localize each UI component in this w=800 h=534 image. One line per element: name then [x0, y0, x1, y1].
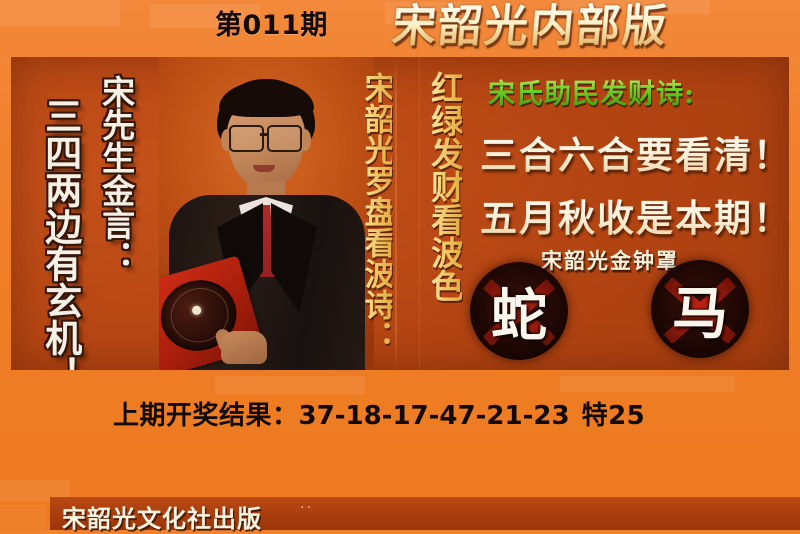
special-number-value: 25	[608, 401, 645, 431]
portrait-mouth	[253, 165, 275, 172]
special-number-label: 特	[582, 401, 609, 431]
last-draw-label: 上期开奖结果：	[113, 401, 299, 431]
portrait-glasses-right-lens	[267, 125, 302, 152]
zodiac-character-snake: 蛇	[470, 262, 568, 360]
zodiac-character-horse: 马	[651, 260, 749, 358]
zodiac-badge-horse: 马	[651, 260, 749, 358]
last-draw-result: 上期开奖结果：37-18-17-47-21-23特25	[113, 395, 645, 432]
portrait-hand	[221, 331, 267, 364]
portrait-glasses-bridge	[260, 133, 267, 136]
issue-number-label: 第011期	[215, 12, 328, 39]
poem-line-1: 三合六合要看清！	[480, 125, 789, 179]
panel-divider-secondary	[419, 57, 420, 370]
vertical-text-riddle-line: 三四两边有玄机！	[41, 97, 79, 370]
zodiac-badge-snake: 蛇	[470, 262, 568, 360]
vertical-text-red-green-wave-color: 红绿发财看波色	[428, 71, 462, 302]
last-draw-numbers: 37-18-17-47-21-23	[299, 401, 570, 431]
brand-title: 宋韶光内部版	[390, 2, 670, 52]
background-streak	[560, 376, 735, 392]
background-streak	[0, 505, 46, 530]
poster-root: 第011期 宋韶光内部版 宋先生金言： 三四两边有玄机！	[0, 0, 800, 530]
poem-line-2: 五月秋收是本期！	[480, 188, 789, 242]
panel-divider	[395, 57, 397, 370]
footer-dots: ··	[300, 500, 313, 516]
vertical-text-sir-golden-words: 宋先生金言：	[99, 75, 133, 273]
portrait-photo	[159, 57, 374, 370]
poem-title: 宋氏助民发财诗:	[488, 72, 695, 111]
main-image-panel: 宋先生金言： 三四两边有玄机！	[11, 57, 789, 370]
publisher-label: 宋韶光文化社出版	[62, 499, 262, 534]
background-streak	[215, 376, 365, 394]
vertical-text-luopan-wave-poem: 宋韶光罗盘看波诗：	[360, 72, 392, 351]
portrait-glasses-left-lens	[229, 125, 264, 152]
poster-header: 第011期 宋韶光内部版	[0, 0, 800, 57]
